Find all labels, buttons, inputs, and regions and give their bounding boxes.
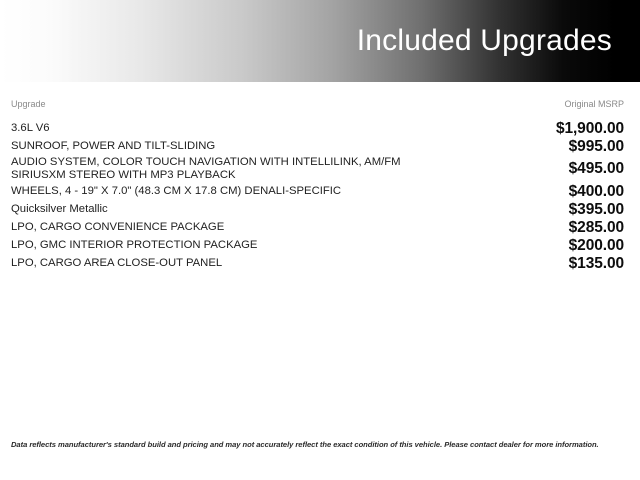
upgrade-name: LPO, GMC INTERIOR PROTECTION PACKAGE (11, 237, 451, 255)
upgrade-name: LPO, CARGO CONVENIENCE PACKAGE (11, 219, 451, 237)
upgrade-price: $495.00 (451, 156, 624, 183)
table-header-row: Upgrade Original MSRP (11, 82, 624, 120)
table-body: 3.6L V6$1,900.00SUNROOF, POWER AND TILT-… (11, 120, 624, 273)
upgrade-price: $1,900.00 (451, 120, 624, 138)
upgrade-name: AUDIO SYSTEM, COLOR TOUCH NAVIGATION WIT… (11, 156, 451, 183)
upgrade-price: $285.00 (451, 219, 624, 237)
table-row: SUNROOF, POWER AND TILT-SLIDING$995.00 (11, 138, 624, 156)
upgrade-price: $395.00 (451, 201, 624, 219)
table-row: Quicksilver Metallic$395.00 (11, 201, 624, 219)
column-header-original-msrp: Original MSRP (451, 82, 624, 120)
upgrade-name: LPO, CARGO AREA CLOSE-OUT PANEL (11, 255, 451, 273)
column-header-upgrade: Upgrade (11, 82, 451, 120)
included-upgrades-page: Included Upgrades Upgrade Original MSRP … (0, 0, 640, 480)
upgrade-name: SUNROOF, POWER AND TILT-SLIDING (11, 138, 451, 156)
header-banner: Included Upgrades (0, 0, 640, 82)
table-row: 3.6L V6$1,900.00 (11, 120, 624, 138)
table-row: WHEELS, 4 - 19" X 7.0" (48.3 CM X 17.8 C… (11, 183, 624, 201)
upgrade-name: WHEELS, 4 - 19" X 7.0" (48.3 CM X 17.8 C… (11, 183, 451, 201)
table-row: LPO, GMC INTERIOR PROTECTION PACKAGE$200… (11, 237, 624, 255)
table-row: AUDIO SYSTEM, COLOR TOUCH NAVIGATION WIT… (11, 156, 624, 183)
upgrade-price: $400.00 (451, 183, 624, 201)
table-row: LPO, CARGO CONVENIENCE PACKAGE$285.00 (11, 219, 624, 237)
table-header: Upgrade Original MSRP (11, 82, 624, 120)
upgrade-price: $995.00 (451, 138, 624, 156)
upgrade-name: 3.6L V6 (11, 120, 451, 138)
disclaimer-text: Data reflects manufacturer's standard bu… (11, 440, 628, 450)
upgrades-table-container: Upgrade Original MSRP 3.6L V6$1,900.00SU… (0, 82, 640, 273)
upgrade-price: $200.00 (451, 237, 624, 255)
upgrade-price: $135.00 (451, 255, 624, 273)
page-title: Included Upgrades (357, 26, 612, 56)
upgrade-name: Quicksilver Metallic (11, 201, 451, 219)
table-row: LPO, CARGO AREA CLOSE-OUT PANEL$135.00 (11, 255, 624, 273)
upgrades-table: Upgrade Original MSRP 3.6L V6$1,900.00SU… (11, 82, 624, 273)
